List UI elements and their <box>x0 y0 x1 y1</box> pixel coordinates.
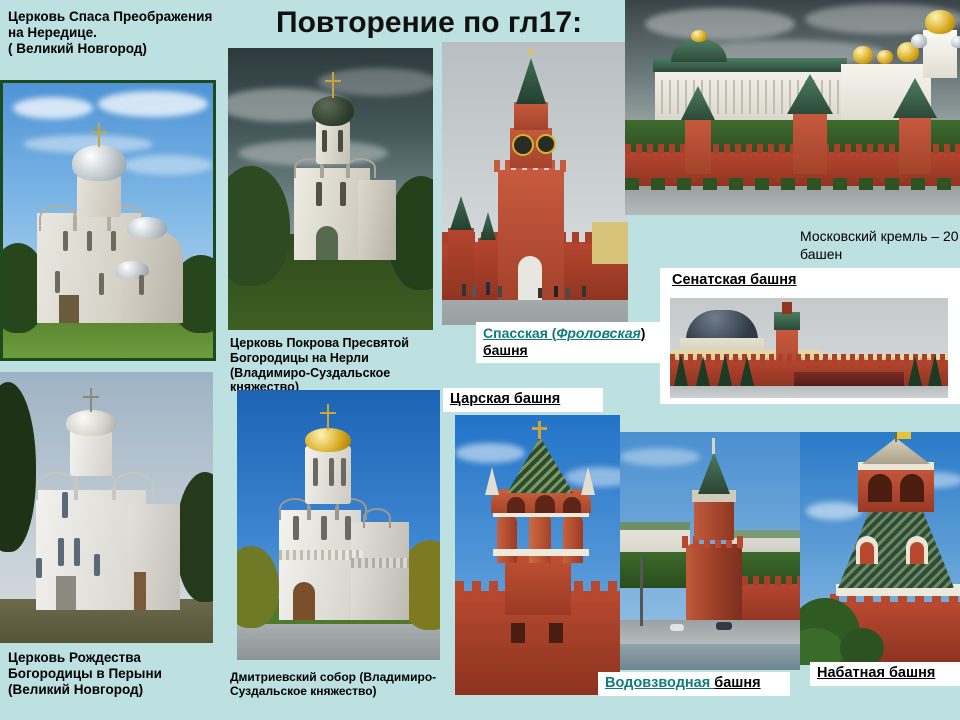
page-title: Повторение по гл17: <box>276 6 582 40</box>
label-spasskaya-tower[interactable]: Спасская (Фроловская) башня <box>476 322 666 363</box>
label-senatskaya-text: Сенатская башня <box>672 272 796 288</box>
photo-dmitrievsky <box>237 390 440 660</box>
photo-pokrova-nerl <box>228 48 433 330</box>
photo-kremlin-panorama <box>625 0 960 215</box>
caption-dmitrievsky: Дмитриевский собор (Владимиро-Суздальско… <box>230 670 445 698</box>
photo-spas-nereditsa <box>0 80 216 361</box>
photo-tsarskaya-tower <box>455 415 620 695</box>
caption-kremlin-towers: Московский кремль – 20 башен <box>800 228 960 263</box>
label-vodovzvodnaya-link: Водовзводная <box>605 675 714 691</box>
label-senatskaya-tower[interactable]: Сенатская башня <box>672 272 796 288</box>
photo-nabatnaya-tower <box>800 432 960 665</box>
label-vodovzvodnaya-tower[interactable]: Водовзводная башня <box>598 672 790 696</box>
label-tsarskaya-text: Царская башня <box>450 391 560 407</box>
caption-pokrova-nerl: Церковь Покрова Пресвятой Богородицы на … <box>230 336 445 395</box>
label-nabatnaya-tower[interactable]: Набатная башня <box>810 662 960 686</box>
label-vodovzvodnaya-rest: башня <box>714 675 760 691</box>
photo-rozhdestva-peryn <box>0 372 213 643</box>
photo-vodovzvodnaya-tower <box>620 432 800 670</box>
photo-spasskaya-tower <box>442 42 628 325</box>
photo-senatskaya-tower <box>670 298 948 398</box>
label-tsarskaya-tower[interactable]: Царская башня <box>443 388 603 412</box>
label-nabatnaya-text: Набатная башня <box>817 665 935 681</box>
label-spasskaya-part1: Спасская ( <box>483 325 556 341</box>
label-spasskaya-part2: Фроловская <box>556 325 640 341</box>
slide-canvas: Повторение по гл17: Церковь Спаса Преобр… <box>0 0 960 720</box>
caption-rozhdestva-peryn: Церковь Рождества Богородицы в Перыни (В… <box>8 650 223 698</box>
caption-spas-nereditsa: Церковь Спаса Преображения на Нередице. … <box>8 9 223 57</box>
